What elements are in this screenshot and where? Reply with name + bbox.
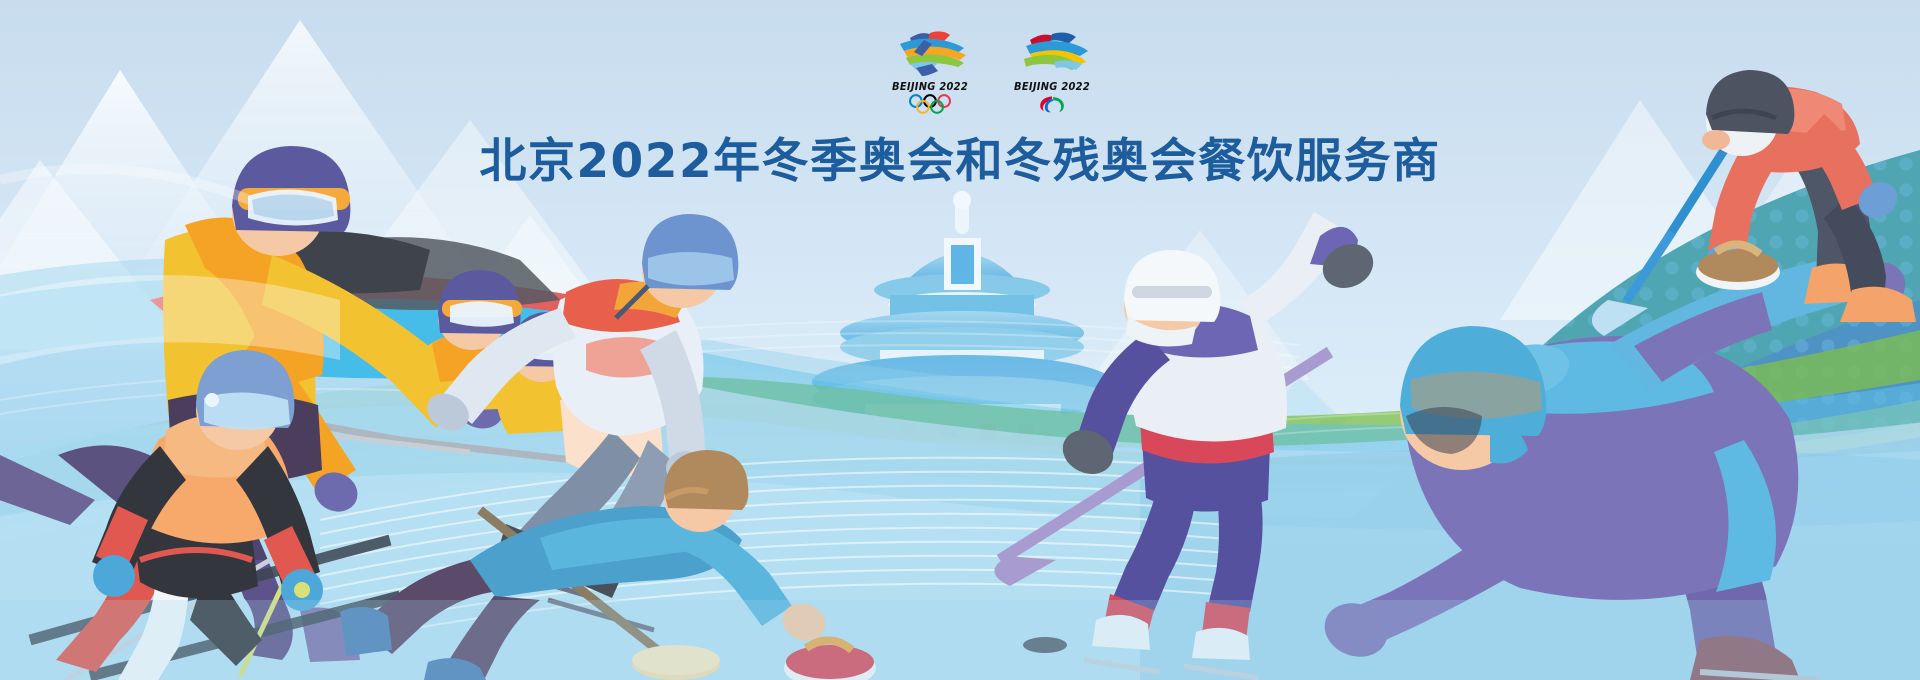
logo-group: BEIJING 2022 bbox=[880, 26, 1100, 116]
olympic-banner: BEIJING 2022 bbox=[0, 0, 1920, 680]
athlete-head bbox=[1400, 326, 1546, 470]
olympic-rings-icon bbox=[880, 94, 980, 114]
olympic-wordmark: BEIJING 2022 bbox=[883, 82, 977, 93]
beijing-2022-olympic-logo: BEIJING 2022 bbox=[880, 26, 980, 116]
olympic-emblem-icon bbox=[880, 26, 980, 78]
page-title: 北京2022年冬季奥会和冬残奥会餐饮服务商 bbox=[0, 122, 1920, 191]
paralympic-agitos-icon bbox=[1002, 94, 1102, 114]
beijing-2022-paralympic-logo: BEIJING 2022 bbox=[1002, 26, 1102, 116]
paralympic-wordmark: BEIJING 2022 bbox=[1005, 82, 1099, 93]
paralympic-emblem-icon bbox=[1002, 26, 1102, 78]
